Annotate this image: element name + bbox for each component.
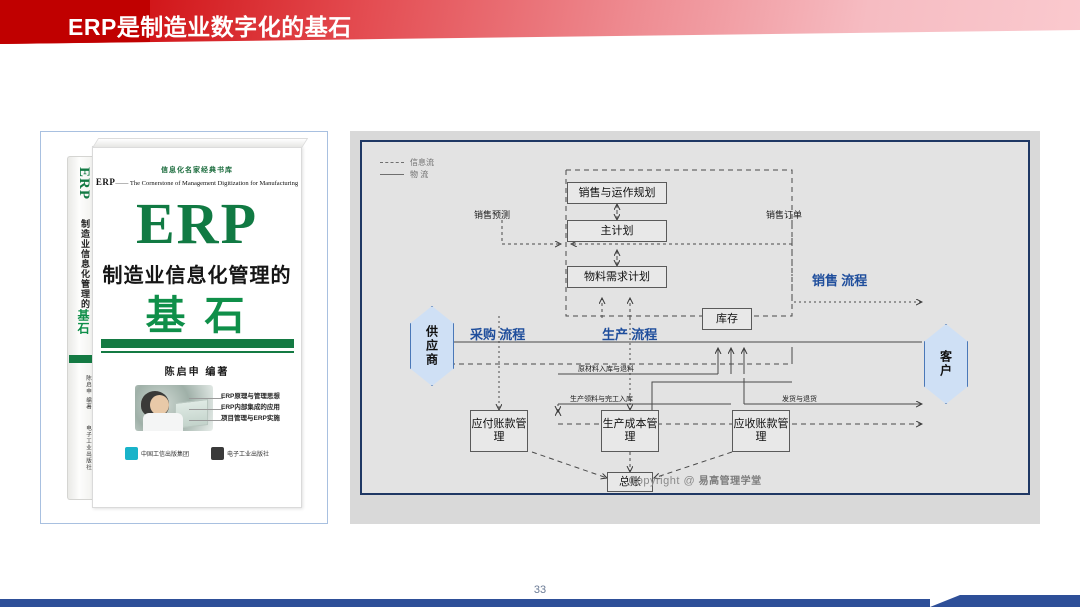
node-production-cost[interactable]: 生产成本管理: [601, 410, 659, 452]
node-accounts-payable[interactable]: 应付账款管理: [470, 410, 528, 452]
book-feature-item: 项目管理与ERP实施: [221, 413, 297, 424]
book-green-bar: [101, 339, 294, 348]
flow-label-sales-forecast: 销售预测: [474, 208, 510, 221]
spine-erp-text: ERP: [70, 167, 92, 200]
node-master-plan[interactable]: 主计划: [567, 220, 667, 242]
book-big-title: ERP: [93, 192, 301, 256]
title-banner: ERP是制造业数字化的基石: [0, 0, 1080, 44]
spine-publisher: 电子工业出版社: [70, 425, 92, 471]
book-image: ERP 制造业信息化管理的 基石 陈启申 编著 电子工业出版社 信息化名家经典书…: [67, 146, 303, 508]
diagram-canvas: 信息流 物 流: [360, 140, 1030, 495]
feature-leader-lines: [189, 395, 223, 425]
diagram-connectors-secondary: [362, 142, 1032, 497]
publisher-entry: 中国工信出版集团: [125, 447, 189, 460]
book-green-bar-thin: [101, 351, 294, 353]
node-accounts-receivable[interactable]: 应收账款管理: [732, 410, 790, 452]
small-label-ship-and-return: 发货与退货: [782, 394, 817, 404]
spine-title-line1: 制造业信息化管理的: [70, 219, 92, 309]
publisher-name: 中国工信出版集团: [141, 449, 189, 458]
book-author: 陈启申 编著: [93, 363, 301, 378]
flow-label-sales-order: 销售订单: [766, 208, 802, 221]
publisher-logo-icon: [211, 447, 224, 460]
book-feature-item: ERP内部集成的应用: [221, 402, 297, 413]
diagram-copyright: Copyright @ 易高管理学堂: [362, 472, 1028, 487]
node-inventory[interactable]: 库存: [702, 308, 752, 330]
erp-flow-diagram-panel: 信息流 物 流: [350, 131, 1040, 524]
publisher-name: 电子工业出版社: [227, 449, 269, 458]
book-english-subtitle: ERP—— The Cornerstone of Management Digi…: [93, 177, 301, 187]
book-feature-list: ERP原理与管理思想 ERP内部集成的应用 项目管理与ERP实施: [221, 391, 297, 424]
small-label-material-inbound: 原材料入库与退料: [578, 364, 634, 374]
process-label-purchasing: 采购 流程: [470, 324, 525, 343]
page-title: ERP是制造业数字化的基石: [68, 8, 352, 42]
node-sales-operations-planning[interactable]: 销售与运作规划: [567, 182, 667, 204]
book-feature-item: ERP原理与管理思想: [221, 391, 297, 402]
small-label-issue-and-finish: 生产领料与完工入库: [570, 394, 633, 404]
copyright-owner: 易高管理学堂: [699, 476, 762, 487]
book-front-cover: 信息化名家经典书库 ERP—— The Cornerstone of Manag…: [92, 146, 302, 508]
copyright-prefix: Copyright @: [628, 475, 698, 487]
process-label-sales: 销售 流程: [812, 270, 867, 289]
spine-author: 陈启申 编著: [70, 375, 92, 410]
spine-green-bar: [69, 355, 93, 363]
book-series-label: 信息化名家经典书库: [93, 165, 301, 175]
photo-face: [150, 395, 169, 415]
publisher-entry: 电子工业出版社: [211, 447, 269, 460]
node-material-requirement-plan[interactable]: 物料需求计划: [567, 266, 667, 288]
spine-title-line2: 基石: [70, 309, 92, 335]
book-spine: ERP 制造业信息化管理的 基石 陈启申 编著 电子工业出版社: [67, 156, 93, 500]
footer-bar-flat: [0, 599, 930, 607]
photo-body: [143, 413, 183, 431]
book-english-subtitle-prefix: ERP: [96, 177, 116, 187]
footer-bar: [0, 595, 1080, 607]
publisher-logo-icon: [125, 447, 138, 460]
book-cover-panel: ERP 制造业信息化管理的 基石 陈启申 编著 电子工业出版社 信息化名家经典书…: [40, 131, 328, 524]
book-publishers: 中国工信出版集团 电子工业出版社: [93, 447, 301, 460]
book-title-line2: 基 石: [93, 283, 301, 341]
book-english-subtitle-rest: —— The Cornerstone of Management Digitiz…: [115, 180, 298, 187]
process-label-production: 生产 流程: [602, 324, 657, 343]
